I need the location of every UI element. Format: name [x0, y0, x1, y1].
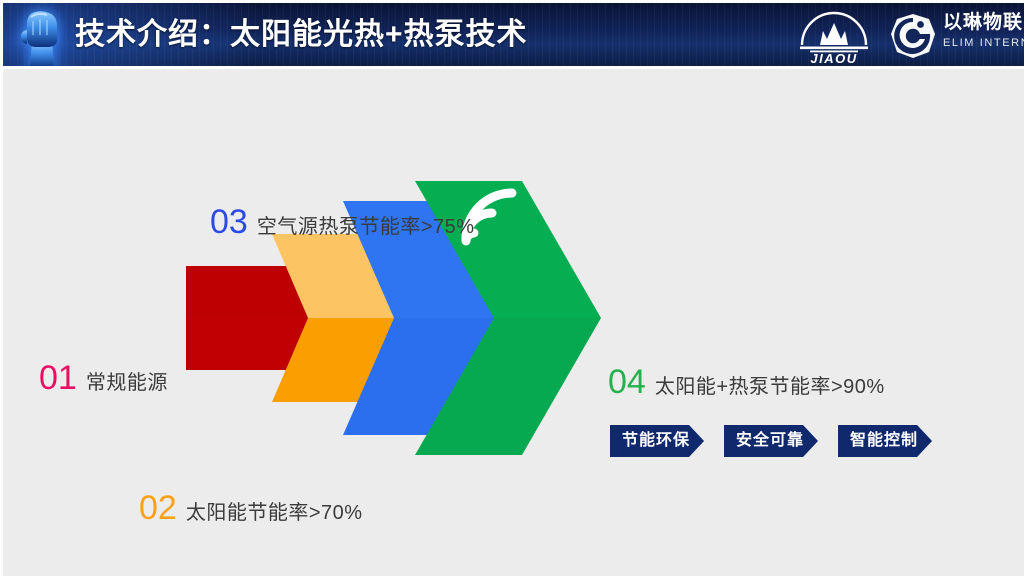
label-step-04-text: 太阳能+热泵节能率>90%	[655, 374, 885, 400]
feature-badge-group: 节能环保 安全可靠 智能控制	[610, 425, 932, 457]
label-step-03-number: 03	[210, 205, 248, 239]
label-step-01-number: 01	[39, 361, 77, 395]
label-step-02-text: 太阳能节能率>70%	[186, 500, 363, 526]
label-step-03: 03 空气源热泵节能率>75%	[210, 205, 475, 240]
label-step-01: 01 常规能源	[39, 361, 168, 396]
badge-smart-control: 智能控制	[838, 425, 932, 457]
jiaou-logo: JIAOU	[792, 9, 876, 65]
label-step-03-text: 空气源热泵节能率>75%	[257, 214, 475, 240]
elim-name-en: ELIM INTERNET	[943, 36, 1027, 50]
label-step-04: 04 太阳能+热泵节能率>90%	[608, 365, 885, 400]
label-step-02-number: 02	[139, 491, 177, 525]
slide-body: 01 常规能源 02 太阳能节能率>70% 03 空气源热泵节能率>75% 04…	[3, 69, 1027, 579]
jiaou-wordmark: JIAOU	[792, 51, 876, 66]
g-monogram-icon	[889, 12, 937, 60]
elim-internet-logo: 以琳物联 ELIM INTERNET	[889, 11, 1019, 61]
elim-name-cn: 以琳物联	[943, 12, 1023, 34]
page-title: 技术介绍：太阳能光热+热泵技术	[75, 12, 528, 58]
badge-safe-reliable: 安全可靠	[724, 425, 818, 457]
label-step-02: 02 太阳能节能率>70%	[139, 491, 363, 526]
sunrise-crown-icon	[792, 9, 876, 53]
raised-fist-icon	[11, 4, 73, 68]
label-step-04-number: 04	[608, 365, 646, 399]
badge-energy-saving: 节能环保	[610, 425, 704, 457]
slide-root: 技术介绍：太阳能光热+热泵技术 JIAOU	[0, 0, 1027, 579]
slide-header: 技术介绍：太阳能光热+热泵技术 JIAOU	[3, 3, 1027, 69]
label-step-01-text: 常规能源	[86, 370, 168, 396]
